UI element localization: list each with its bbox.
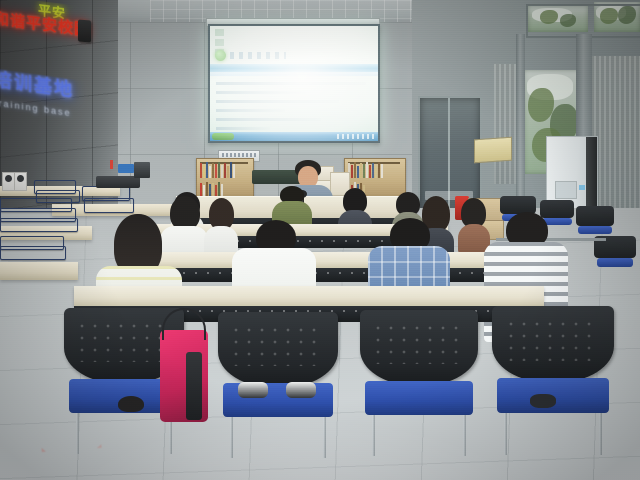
app-toolbar: [230, 52, 286, 59]
chair-seat: [365, 381, 474, 415]
storage-crate-3: [0, 218, 78, 232]
chair-leg-left: [372, 415, 375, 456]
chair-back: [218, 312, 338, 388]
desk-row-1: [74, 286, 544, 306]
books-right: [348, 162, 398, 178]
chair-foreground-2[interactable]: [218, 312, 338, 434]
clerestory-frame: [526, 4, 640, 38]
storage-crate-7: [36, 190, 80, 203]
system-tray-icons: [337, 134, 375, 139]
left-blue-tray: [118, 164, 134, 173]
chair-foreground-3[interactable]: [360, 310, 478, 432]
books-left-lower: [200, 182, 246, 196]
left-equipment-dark: [96, 176, 140, 188]
cabinet-panel: [555, 181, 577, 199]
app-subbar: [210, 72, 378, 76]
chair-leg-right: [463, 415, 466, 456]
shoe-right: [530, 394, 556, 408]
binder-2: [14, 172, 27, 191]
desktop-icons: [215, 29, 241, 51]
screen-taskbar: [210, 132, 378, 141]
spare-chair-3[interactable]: [576, 206, 614, 226]
app-title-bar: [210, 64, 378, 72]
cabinet-indicator: [579, 185, 585, 190]
chair-leg-left: [504, 413, 507, 455]
left-red-marker: [110, 160, 113, 169]
handbag-dark-flap: [186, 352, 202, 420]
photograph-classroom-training: 平安 和谐平安校园 培训基地 training base: [0, 0, 640, 480]
screen-desktop: [210, 26, 378, 141]
left-counter-lower: [0, 262, 78, 280]
books-left: [200, 162, 246, 178]
storage-crate-9: [84, 198, 134, 213]
shoe-sneaker-1: [238, 382, 268, 398]
wall-plaque: [474, 137, 512, 164]
chair-foreground-4[interactable]: [492, 306, 614, 430]
shoe-left: [118, 396, 144, 412]
storage-crate-5: [0, 246, 66, 260]
app-content-rows: [216, 82, 366, 136]
chair-leg-right: [599, 413, 602, 455]
start-button-icon: [212, 133, 234, 140]
left-monitor: [134, 162, 150, 178]
projector-screen: [208, 24, 380, 143]
chair-back: [360, 310, 478, 386]
chair-leg-left: [230, 417, 233, 458]
wall-speaker-left-icon: [78, 19, 91, 42]
chair-back: [492, 306, 614, 383]
shoe-sneaker-2: [286, 382, 316, 398]
green-orb-icon: [215, 50, 226, 61]
chair-leg-left: [76, 413, 79, 454]
chair-leg-right: [323, 417, 326, 458]
